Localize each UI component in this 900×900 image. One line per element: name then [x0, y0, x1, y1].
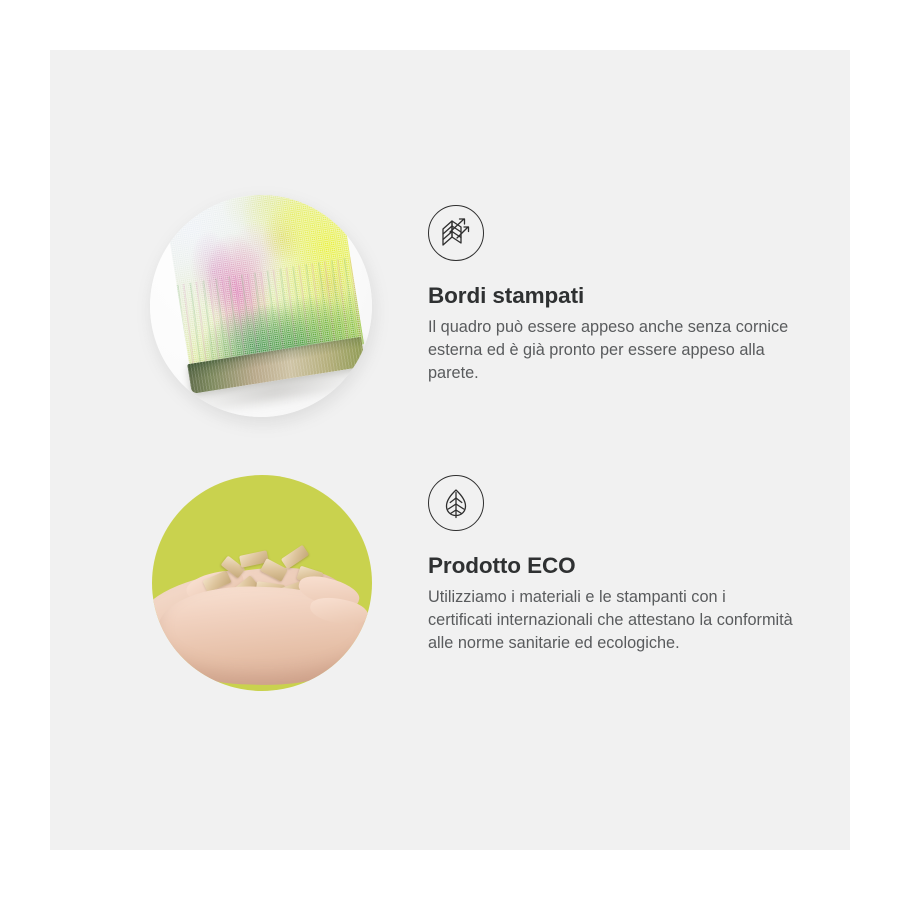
feature-title: Prodotto ECO	[428, 553, 800, 579]
content-panel: Bordi stampati Il quadro può essere appe…	[50, 50, 850, 850]
canvas-printed-edges-icon	[428, 205, 484, 261]
leaf-icon	[428, 475, 484, 531]
feature-text-printed-edges: Bordi stampati Il quadro può essere appe…	[428, 205, 800, 385]
feature-body: Utilizziamo i materiali e le stampanti c…	[428, 586, 794, 655]
printed-canvas-corner-photo	[150, 195, 372, 417]
wood-chip	[281, 545, 309, 569]
canvas-block	[164, 195, 368, 398]
feature-title: Bordi stampati	[428, 283, 800, 309]
infographic-page: Bordi stampati Il quadro può essere appe…	[0, 0, 900, 900]
feature-text-eco-product: Prodotto ECO Utilizziamo i materiali e l…	[428, 475, 800, 655]
feature-body: Il quadro può essere appeso anche senza …	[428, 316, 794, 385]
hands-holding-wood-chips-photo	[152, 475, 372, 691]
